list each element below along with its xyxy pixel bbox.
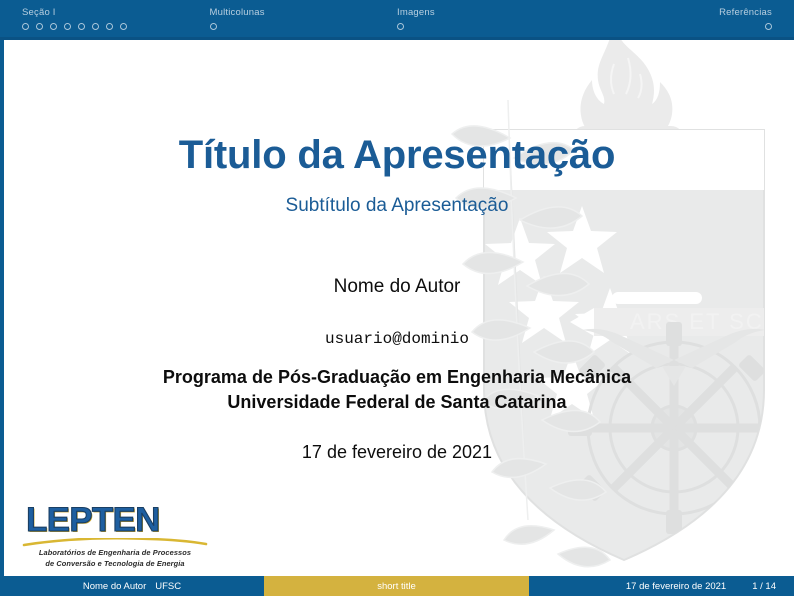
nav-slide-dots[interactable]	[585, 22, 773, 32]
nav-slide-dots[interactable]	[210, 22, 398, 32]
slide-dot[interactable]	[210, 23, 217, 30]
author-name: Nome do Autor	[0, 276, 794, 298]
institution-line-1: Programa de Pós-Graduação em Engenharia …	[0, 365, 794, 390]
slide-dot[interactable]	[92, 23, 99, 30]
slide-dot[interactable]	[64, 23, 71, 30]
slide-dot[interactable]	[765, 23, 772, 30]
slide-dot[interactable]	[78, 23, 85, 30]
title-slide-content: Título da Apresentação Subtítulo da Apre…	[0, 40, 794, 576]
lepten-wordmark: LEPTEN	[22, 503, 216, 537]
slide-dot[interactable]	[36, 23, 43, 30]
nav-section-secao-i[interactable]: Seção I	[22, 0, 210, 40]
nav-label: Imagens	[397, 7, 585, 19]
slide-dot[interactable]	[397, 23, 404, 30]
nav-slide-dots[interactable]	[397, 22, 585, 32]
footer-date: 17 de fevereiro de 2021	[626, 581, 726, 592]
footer-meta-cell: 17 de fevereiro de 2021 1 / 14	[529, 576, 794, 596]
slide-dot[interactable]	[50, 23, 57, 30]
nav-section-referencias[interactable]: Referências	[585, 0, 773, 40]
footer-page-number: 1 / 14	[752, 581, 776, 592]
footer-short-title-cell: short title	[264, 576, 529, 596]
slide-dot[interactable]	[22, 23, 29, 30]
nav-section-multicolunas[interactable]: Multicolunas	[210, 0, 398, 40]
author-email: usuario@dominio	[0, 330, 794, 348]
page-title: Título da Apresentação	[0, 133, 794, 178]
page-subtitle: Subtítulo da Apresentação	[0, 195, 794, 217]
section-navigation-bar: Seção I Multicolunas	[0, 0, 794, 40]
slide-dot[interactable]	[120, 23, 127, 30]
presentation-slide: ARS ET SCIENTIA	[0, 0, 794, 596]
presentation-date: 17 de fevereiro de 2021	[0, 442, 794, 463]
footer-short-title: short title	[377, 581, 416, 592]
lepten-swoosh-icon	[22, 538, 208, 547]
footer-author: Nome do Autor	[83, 581, 146, 592]
nav-items: Seção I Multicolunas	[0, 0, 794, 40]
institution-line-2: Universidade Federal de Santa Catarina	[0, 390, 794, 415]
lepten-logo: LEPTEN Laboratórios de Engenharia de Pro…	[22, 503, 212, 571]
lepten-tagline-line-1: Laboratórios de Engenharia de Processos	[22, 548, 208, 558]
nav-slide-dots[interactable]	[22, 22, 210, 32]
nav-label: Referências	[585, 7, 773, 19]
footer-author-cell: Nome do Autor UFSC	[0, 576, 264, 596]
slide-footer: Nome do Autor UFSC short title 17 de fev…	[0, 576, 794, 596]
lepten-tagline-line-2: de Conversão e Tecnologia de Energia	[22, 559, 208, 569]
nav-section-imagens[interactable]: Imagens	[397, 0, 585, 40]
slide-dot[interactable]	[106, 23, 113, 30]
institution-block: Programa de Pós-Graduação em Engenharia …	[0, 365, 794, 415]
nav-label: Multicolunas	[210, 7, 398, 19]
left-accent-rule	[0, 40, 4, 576]
footer-institution: UFSC	[155, 581, 181, 592]
